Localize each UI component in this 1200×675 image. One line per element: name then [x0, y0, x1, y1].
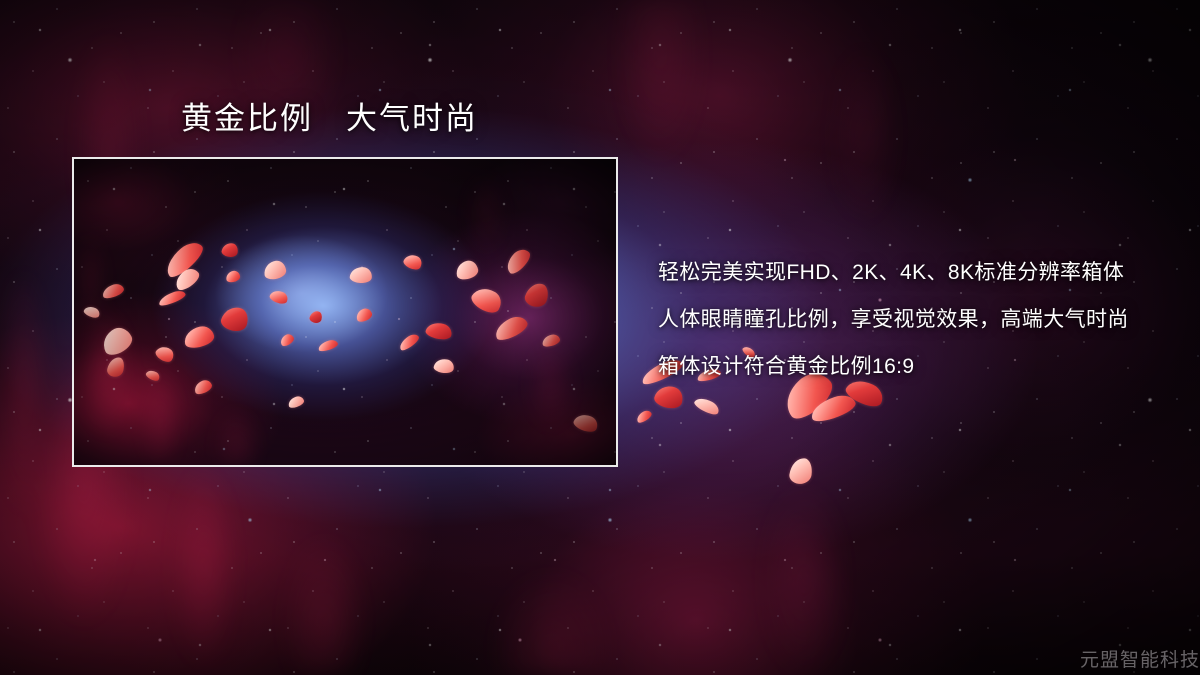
panel-image — [74, 159, 616, 465]
petal — [788, 457, 813, 486]
petal — [693, 395, 722, 418]
image-panel[interactable] — [72, 157, 618, 467]
body-text-block: 轻松完美实现FHD、2K、4K、8K标准分辨率箱体 人体眼睛瞳孔比例，享受视觉效… — [658, 256, 1129, 380]
presentation-slide: 黄金比例 大气时尚 轻松完美实现FHD、2K、4K、8K标准分辨率箱体 人体眼睛… — [0, 0, 1200, 675]
body-line-3: 箱体设计符合黄金比例16:9 — [658, 350, 1129, 380]
petal — [635, 409, 653, 425]
body-line-1: 轻松完美实现FHD、2K、4K、8K标准分辨率箱体 — [658, 256, 1129, 286]
panel-vignette — [74, 159, 616, 465]
petal — [653, 383, 686, 412]
body-line-2: 人体眼睛瞳孔比例，享受视觉效果，高端大气时尚 — [658, 303, 1129, 333]
page-title: 黄金比例 大气时尚 — [181, 100, 478, 139]
watermark: 元盟智能科技 — [1080, 645, 1200, 672]
